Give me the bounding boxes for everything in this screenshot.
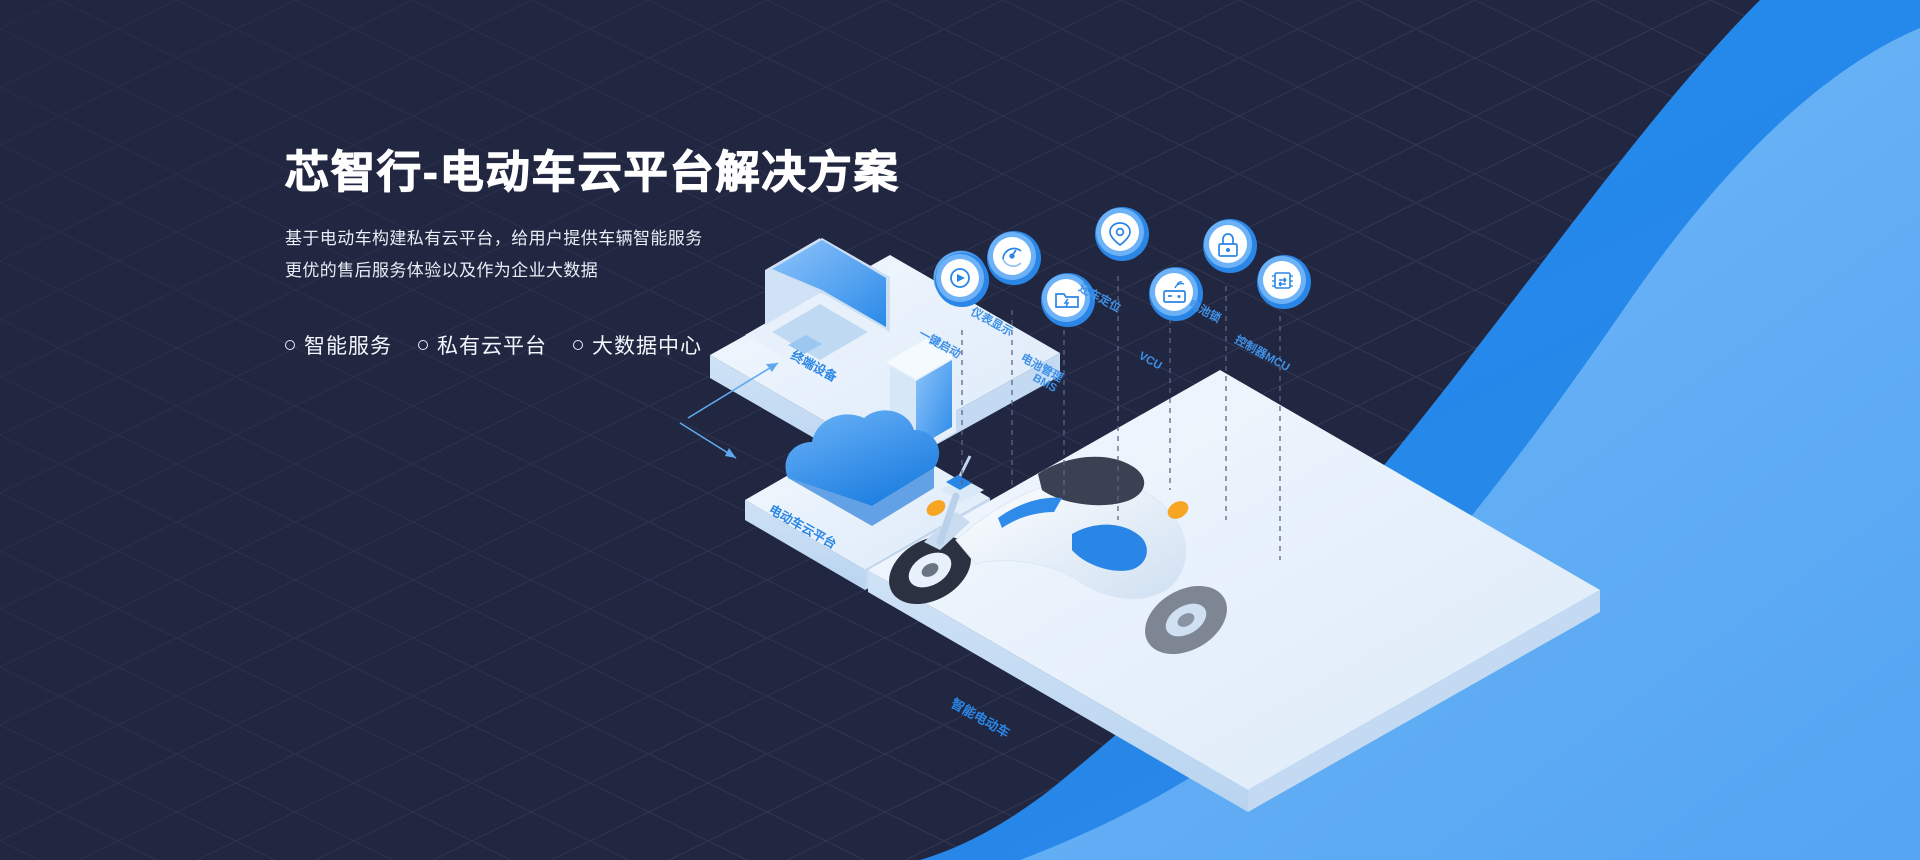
hero-banner: 芯智行-电动车云平台解决方案 基于电动车构建私有云平台，给用户提供车辆智能服务 …	[0, 0, 1920, 860]
badge-label-vcu: VCU	[1137, 350, 1164, 372]
badge-label-controller-mcu: 控制器MCU	[1233, 332, 1293, 374]
badge-battery-lock[interactable]: 电池锁	[1187, 219, 1257, 326]
badge-vcu[interactable]: VCU	[1137, 267, 1203, 372]
badge-controller-mcu[interactable]: 控制器MCU	[1233, 255, 1311, 374]
platform-smart-ev: 智能电动车	[868, 370, 1600, 812]
bullet-item-2: 私有云平台	[418, 330, 547, 360]
circle-outline-icon	[285, 340, 295, 350]
circle-outline-icon	[418, 340, 428, 350]
bullet-label: 智能服务	[304, 330, 392, 360]
platform-label-ev: 智能电动车	[949, 696, 1013, 741]
bullet-label: 私有云平台	[437, 330, 547, 360]
circle-outline-icon	[573, 340, 583, 350]
isometric-illustration: 终端设备 电动车云平台	[640, 190, 1920, 860]
badge-label-battery-lock: 电池锁	[1187, 296, 1224, 325]
bullet-item-1: 智能服务	[285, 330, 392, 360]
